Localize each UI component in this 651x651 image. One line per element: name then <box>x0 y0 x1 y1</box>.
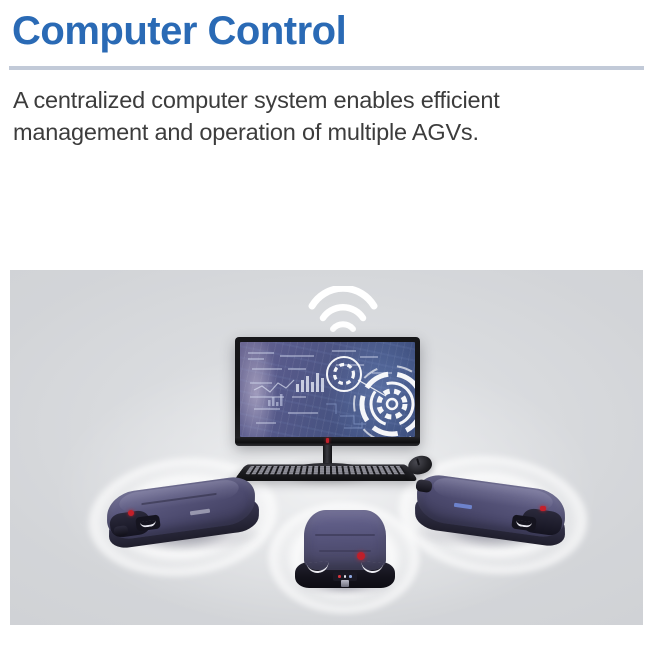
keyboard-keys <box>245 466 407 474</box>
agv-right-status-led-icon <box>540 506 546 511</box>
monitor-screen <box>240 342 415 437</box>
description-line-1: A centralized computer system enables ef… <box>13 84 613 116</box>
agv-center-body <box>304 510 386 570</box>
agv-center-indicator-white <box>344 575 347 578</box>
agv-center <box>295 508 395 600</box>
description-text: A centralized computer system enables ef… <box>13 84 613 148</box>
agv-right-caster <box>415 479 433 493</box>
agv-center-charging-contact <box>341 580 349 587</box>
agv-left-status-led-icon <box>128 510 134 516</box>
agv-center-indicator-blue <box>349 575 352 578</box>
desktop-monitor <box>235 337 420 462</box>
agv-right <box>410 466 568 561</box>
agv-center-status-led-icon <box>357 552 365 560</box>
illustration-panel <box>10 270 643 625</box>
page-title: Computer Control <box>12 11 346 51</box>
screen-hud-graphic <box>240 342 415 437</box>
wifi-signal-icon <box>298 286 388 336</box>
agv-center-seam-lower <box>319 550 371 552</box>
agv-center-indicator-red <box>338 575 341 578</box>
keyboard <box>240 458 412 486</box>
monitor-bezel <box>235 337 420 445</box>
slide-page: Computer Control A centralized computer … <box>0 0 651 651</box>
description-line-2: management and operation of multiple AGV… <box>13 116 613 148</box>
agv-center-seam-upper <box>315 534 375 536</box>
title-divider <box>9 66 644 70</box>
monitor-power-led-icon <box>326 438 329 443</box>
agv-left <box>106 468 264 563</box>
